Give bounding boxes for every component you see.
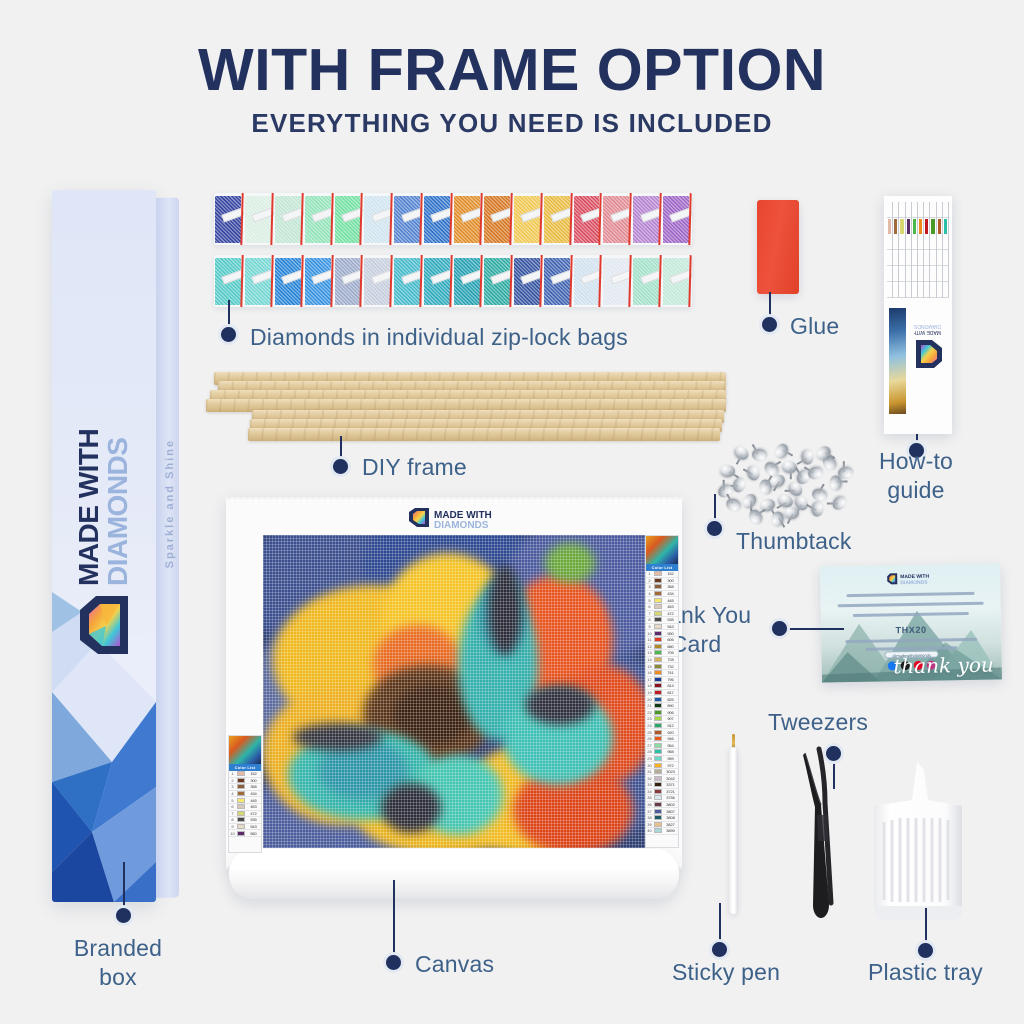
color-list-code: 3802	[663, 802, 678, 807]
thumbtack-pin	[743, 468, 753, 475]
color-list-row: 17796	[646, 677, 678, 684]
color-list-row: 6453	[229, 804, 261, 811]
color-list-number: 35	[646, 795, 653, 800]
color-list-code: 3827	[663, 822, 678, 827]
ziplock-bag	[543, 255, 573, 307]
color-list-code: 434	[246, 791, 261, 796]
guide-table-cell	[887, 266, 892, 282]
guide-table-cell	[924, 282, 929, 298]
ziplock-bag	[483, 255, 513, 307]
lead-line-pen	[719, 903, 721, 945]
guide-table-cell	[930, 235, 935, 251]
color-list-number: 6	[646, 604, 653, 609]
ziplock-bag	[632, 193, 662, 245]
color-list-code: 358	[663, 584, 678, 589]
color-list-row: 23907	[646, 716, 678, 723]
color-swatch	[654, 703, 662, 708]
color-list-code: 152	[663, 571, 678, 576]
color-swatch	[654, 631, 662, 636]
guide-table-cell	[913, 219, 916, 234]
guide-table-cell	[906, 282, 911, 298]
guide-table-cell	[899, 250, 904, 266]
color-list-row: 13705	[646, 650, 678, 657]
color-swatch	[654, 723, 662, 728]
color-list-row: 1152	[646, 571, 678, 578]
color-list-number: 38	[646, 815, 653, 820]
guide-table-cell	[887, 235, 892, 251]
color-list-row: 313023	[646, 769, 678, 776]
color-list-row: 9543	[229, 824, 261, 831]
color-list-number: 2	[229, 778, 236, 783]
color-list-code: 550	[246, 831, 261, 836]
ziplock-bag	[662, 255, 692, 307]
thumbtack	[731, 476, 748, 494]
color-swatch	[654, 617, 662, 622]
color-list-number: 8	[646, 617, 653, 622]
ziplock-bag	[334, 255, 364, 307]
color-list-row: 20825	[646, 696, 678, 703]
color-list-row: 29959	[646, 756, 678, 763]
callout-label-bags: Diamonds in individual zip-lock bags	[250, 323, 628, 352]
color-list-row: 5445	[229, 797, 261, 804]
color-list-number: 23	[646, 716, 653, 721]
thumbtack-pin	[784, 490, 795, 492]
callout-dot-glue	[762, 317, 777, 332]
color-list-code: 543	[663, 624, 678, 629]
color-list-code: 472	[663, 611, 678, 616]
guide-table-cell	[937, 235, 942, 251]
ziplock-bag	[334, 193, 364, 245]
color-list-row: 8535	[646, 617, 678, 624]
guide-table-cell	[912, 235, 917, 251]
color-list-number: 40	[646, 828, 653, 833]
color-list-row: 333371	[646, 782, 678, 789]
thank-you-logo-icon: MADE WITH DIAMONDS	[886, 571, 940, 585]
color-list-header-right: Color List	[646, 564, 678, 571]
color-swatch	[654, 822, 662, 827]
thumbtack	[781, 460, 798, 474]
color-swatch	[654, 697, 662, 702]
box-brand-line2: DIAMONDS	[103, 438, 132, 586]
thumbtack-pin	[796, 457, 806, 464]
ziplock-bag	[363, 193, 393, 245]
color-list-number: 15	[646, 664, 653, 669]
color-list-row: 1152	[229, 771, 261, 778]
color-list-code: 912	[663, 723, 678, 728]
color-list-row: 8535	[229, 817, 261, 824]
color-list-row: 2300	[229, 778, 261, 785]
color-list-left: Color List 11522300335844345445645374728…	[228, 735, 262, 853]
color-list-code: 796	[663, 677, 678, 682]
callout-label-frame: DIY frame	[362, 453, 467, 482]
guide-table-cell	[925, 219, 928, 234]
guide-table-cell	[894, 219, 897, 234]
color-swatch	[654, 809, 662, 814]
guide-table-cell	[907, 219, 910, 234]
guide-color-table	[887, 202, 949, 298]
color-list-number: 16	[646, 670, 653, 675]
callout-dot-frame	[333, 459, 348, 474]
color-swatch	[654, 690, 662, 695]
color-list-number: 3	[229, 784, 236, 789]
color-list-row: 4434	[229, 791, 261, 798]
page-subtitle: EVERYTHING YOU NEED IS INCLUDED	[0, 108, 1024, 139]
ziplock-bag	[423, 193, 453, 245]
color-list-number: 6	[229, 804, 236, 809]
guide-table-cell	[918, 235, 923, 251]
guide-table-cell	[943, 235, 948, 251]
thumbtack-pin	[789, 468, 791, 479]
color-list-code: 535	[663, 617, 678, 622]
color-list-row: 24912	[646, 723, 678, 730]
color-list-code: 152	[246, 771, 261, 776]
color-list-number: 1	[646, 571, 653, 576]
color-list-code: 445	[663, 598, 678, 603]
diy-frame-slats	[206, 372, 736, 444]
guide-table-cell	[924, 250, 929, 266]
color-list-number: 9	[646, 624, 653, 629]
color-swatch	[654, 657, 662, 662]
guide-table-cell	[906, 202, 911, 218]
thumbtack	[740, 491, 759, 510]
how-to-guide-sheet: MADE WITH DIAMONDS	[884, 196, 952, 434]
color-list-code: 680	[663, 644, 678, 649]
color-swatch	[654, 604, 662, 609]
ziplock-bag	[214, 193, 244, 245]
ziplock-bag	[244, 193, 274, 245]
infographic-canvas: WITH FRAME OPTION EVERYTHING YOU NEED IS…	[0, 0, 1024, 1024]
branded-box-front: MADE WITH DIAMONDS	[52, 190, 156, 902]
color-swatch	[654, 789, 662, 794]
guide-table-cell	[931, 219, 934, 234]
color-list-number: 10	[646, 631, 653, 636]
color-swatch	[654, 677, 662, 682]
guide-table-cell	[930, 266, 935, 282]
thumbtack-pin	[735, 454, 742, 464]
thumbtack-pin	[753, 444, 760, 454]
color-list-code: 3023	[663, 769, 678, 774]
ziplock-bag	[632, 255, 662, 307]
color-swatch	[654, 578, 662, 583]
color-list-code: 825	[663, 697, 678, 702]
callout-label-pen: Sticky pen	[672, 958, 780, 987]
thumbtack	[801, 449, 815, 465]
color-swatch	[654, 683, 662, 688]
callout-label-box: Branded box	[48, 934, 188, 993]
color-list-row: 19817	[646, 690, 678, 697]
guide-table-cell	[918, 202, 923, 218]
color-swatch	[654, 815, 662, 820]
guide-table-cell	[893, 250, 898, 266]
guide-table-cell	[930, 202, 935, 218]
color-list-code: 453	[246, 804, 261, 809]
color-swatch	[237, 791, 245, 796]
color-list-code: 3756	[663, 795, 678, 800]
box-brand-line1: MADE WITH	[75, 429, 103, 586]
color-list-code: 906	[663, 710, 678, 715]
thumbtack-pin	[827, 502, 838, 504]
ziplock-bags-row-2	[214, 255, 692, 307]
color-list-row: 21890	[646, 703, 678, 710]
callout-label-canvas: Canvas	[415, 950, 494, 979]
color-list-row: 3358	[229, 784, 261, 791]
color-swatch	[654, 644, 662, 649]
callout-dot-thankyou	[772, 621, 787, 636]
color-list-number: 1	[229, 771, 236, 776]
color-list-row: 9543	[646, 624, 678, 631]
color-list-code: 3721	[663, 789, 678, 794]
ziplock-bag	[423, 255, 453, 307]
color-list-row: 26946	[646, 736, 678, 743]
ziplock-bag	[543, 193, 573, 245]
color-swatch	[654, 670, 662, 675]
color-list-code: 3890	[663, 828, 678, 833]
ziplock-bag	[483, 193, 513, 245]
guide-table-cell	[893, 235, 898, 251]
thumbtacks-group	[712, 437, 852, 529]
sticky-pen	[727, 734, 740, 914]
color-list-number: 11	[646, 637, 653, 642]
guide-table-cell	[943, 266, 948, 282]
color-list-number: 27	[646, 743, 653, 748]
guide-table-cell	[899, 266, 904, 282]
color-list-number: 12	[646, 644, 653, 649]
ziplock-bag	[244, 255, 274, 307]
color-list-code: 300	[663, 578, 678, 583]
color-list-row: 403890	[646, 828, 678, 835]
guide-table-cell	[943, 282, 948, 298]
color-list-number: 5	[229, 798, 236, 803]
color-list-right: Color List 11522300335844345445645374728…	[645, 535, 679, 848]
color-list-number: 25	[646, 730, 653, 735]
thumbtack-pin	[818, 484, 825, 494]
color-list-number: 37	[646, 809, 653, 814]
color-list-row: 12680	[646, 644, 678, 651]
color-list-row: 3358	[646, 584, 678, 591]
color-list-number: 33	[646, 782, 653, 787]
color-list-row: 16741	[646, 670, 678, 677]
color-list-number: 19	[646, 690, 653, 695]
color-swatch	[654, 769, 662, 774]
color-swatch	[654, 637, 662, 642]
lead-line-canvas	[393, 880, 395, 958]
color-list-code: 705	[663, 650, 678, 655]
color-swatch	[654, 716, 662, 721]
color-list-number: 34	[646, 789, 653, 794]
color-swatch	[237, 798, 245, 803]
ziplock-bag	[274, 193, 304, 245]
color-swatch	[654, 584, 662, 589]
color-swatch	[237, 771, 245, 776]
color-list-row: 373807	[646, 808, 678, 815]
color-swatch	[654, 782, 662, 787]
guide-table-cell	[943, 202, 948, 218]
color-list-code: 543	[246, 824, 261, 829]
color-list-row: 15732	[646, 663, 678, 670]
guide-table-cell	[918, 250, 923, 266]
color-list-code: 535	[246, 817, 261, 822]
callout-label-glue: Glue	[790, 312, 839, 341]
svg-text:DIAMONDS: DIAMONDS	[434, 520, 489, 529]
ziplock-bag	[602, 193, 632, 245]
guide-table-cell	[899, 282, 904, 298]
guide-table-cell	[937, 282, 942, 298]
guide-table-cell	[924, 235, 929, 251]
guide-table-cell	[893, 282, 898, 298]
color-list-code: 300	[246, 778, 261, 783]
color-list-number: 26	[646, 736, 653, 741]
box-tagline: Sparkle and Shine	[164, 414, 176, 594]
thumbtack-pin	[727, 494, 734, 504]
tweezers	[795, 745, 843, 920]
color-swatch	[654, 743, 662, 748]
canvas-rolled-edge	[229, 849, 679, 899]
color-swatch	[654, 828, 662, 833]
color-list-code: 954	[663, 743, 678, 748]
diamond-logo-icon	[76, 594, 132, 656]
svg-text:DIAMONDS: DIAMONDS	[900, 580, 928, 586]
page-title: WITH FRAME OPTION	[0, 36, 1024, 104]
callout-label-thumbtack: Thumbtack	[736, 527, 852, 556]
thumbtack-pin	[786, 514, 793, 524]
color-list-thumbnail-right	[646, 536, 678, 564]
color-list-number: 32	[646, 776, 653, 781]
callout-dot-bags	[221, 327, 236, 342]
guide-table-cell	[912, 266, 917, 282]
guide-table-cell	[906, 250, 911, 266]
color-swatch	[237, 778, 245, 783]
thumbtack	[732, 444, 751, 463]
ziplock-bag	[304, 255, 334, 307]
ziplock-bag	[393, 193, 423, 245]
callout-dot-canvas	[386, 955, 401, 970]
color-swatch	[654, 730, 662, 735]
color-swatch	[654, 598, 662, 603]
color-list-number: 18	[646, 683, 653, 688]
thumbtack-pin	[771, 461, 781, 468]
color-list-number: 2	[646, 578, 653, 583]
callout-dot-tray	[918, 943, 933, 958]
color-list-number: 9	[229, 824, 236, 829]
color-list-header-left: Color List	[229, 764, 261, 771]
color-list-number: 7	[229, 811, 236, 816]
thumbtack	[811, 501, 824, 517]
guide-table-cell	[930, 282, 935, 298]
guide-table-cell	[899, 235, 904, 251]
thumbtack-pin	[806, 504, 816, 511]
color-list-rows-right: 1152230033584434544564537472853595431055…	[646, 571, 678, 835]
guide-table-cell	[943, 250, 948, 266]
guide-table-cell	[937, 250, 942, 266]
color-list-number: 30	[646, 763, 653, 768]
color-swatch	[654, 776, 662, 781]
color-list-row: 18814	[646, 683, 678, 690]
color-list-row: 7472	[646, 611, 678, 618]
canvas-logo-icon: MADE WITH DIAMONDS	[371, 507, 536, 529]
guide-table-cell	[887, 282, 892, 298]
thumbtack-pin	[776, 502, 786, 509]
guide-table-cell	[906, 266, 911, 282]
guide-table-cell	[924, 266, 929, 282]
color-list-number: 5	[646, 598, 653, 603]
callout-label-tray: Plastic tray	[868, 958, 983, 987]
color-swatch	[654, 795, 662, 800]
color-list-row: 393827	[646, 822, 678, 829]
color-list-code: 741	[663, 670, 678, 675]
callout-dot-box	[116, 908, 131, 923]
callout-dot-pen	[712, 942, 727, 957]
color-list-row: 5445	[646, 597, 678, 604]
color-list-code: 550	[663, 631, 678, 636]
guide-table-cell	[887, 202, 892, 218]
color-swatch	[654, 664, 662, 669]
zip-seal	[688, 193, 691, 245]
color-list-code: 946	[663, 736, 678, 741]
guide-table-cell	[938, 219, 941, 234]
guide-table-cell	[944, 219, 947, 234]
color-list-code: 890	[663, 703, 678, 708]
glue-bottle	[757, 200, 799, 294]
color-list-row: 30972	[646, 762, 678, 769]
thumbtack-pin	[773, 481, 780, 491]
color-list-code: 606	[663, 637, 678, 642]
color-swatch	[654, 624, 662, 629]
color-list-code: 3808	[663, 815, 678, 820]
color-list-row: 6453	[646, 604, 678, 611]
color-list-code: 434	[663, 591, 678, 596]
lead-line-glue	[769, 292, 771, 320]
color-swatch	[654, 749, 662, 754]
thumbtack-pin	[756, 510, 766, 517]
color-list-code: 907	[663, 716, 678, 721]
pen-body	[729, 748, 738, 914]
ziplock-bag	[513, 193, 543, 245]
thank-you-card: MADE WITH DIAMONDS THX20 @madewithdiamon…	[820, 563, 1002, 682]
lead-line-box	[123, 862, 125, 912]
guide-table-cell	[918, 266, 923, 282]
color-swatch	[237, 817, 245, 822]
thumbtack	[724, 496, 743, 513]
guide-table-cell	[919, 219, 922, 234]
color-list-code: 3807	[663, 809, 678, 814]
thumbtack	[720, 465, 735, 477]
color-list-row: 14728	[646, 657, 678, 664]
guide-table-cell	[912, 202, 917, 218]
zip-seal	[688, 255, 691, 307]
ziplock-bag	[662, 193, 692, 245]
ziplock-bag	[573, 255, 603, 307]
color-list-number: 3	[646, 584, 653, 589]
canvas-artwork	[263, 535, 645, 848]
color-list-code: 732	[663, 664, 678, 669]
color-list-code: 3371	[663, 782, 678, 787]
thumbtack	[746, 464, 762, 482]
color-list-number: 24	[646, 723, 653, 728]
ziplock-bag	[363, 255, 393, 307]
thumbtack-pin	[844, 461, 846, 472]
color-swatch	[654, 802, 662, 807]
color-list-code: 445	[246, 798, 261, 803]
guide-table-cell	[924, 202, 929, 218]
ziplock-bag	[393, 255, 423, 307]
lead-line-thankyou	[784, 628, 844, 630]
thumbtack	[830, 493, 849, 512]
thank-you-discount-code: THX20	[896, 625, 927, 636]
color-list-number: 39	[646, 822, 653, 827]
plastic-tray	[872, 760, 968, 926]
guide-table-cell	[900, 219, 903, 234]
ziplock-bag	[573, 193, 603, 245]
